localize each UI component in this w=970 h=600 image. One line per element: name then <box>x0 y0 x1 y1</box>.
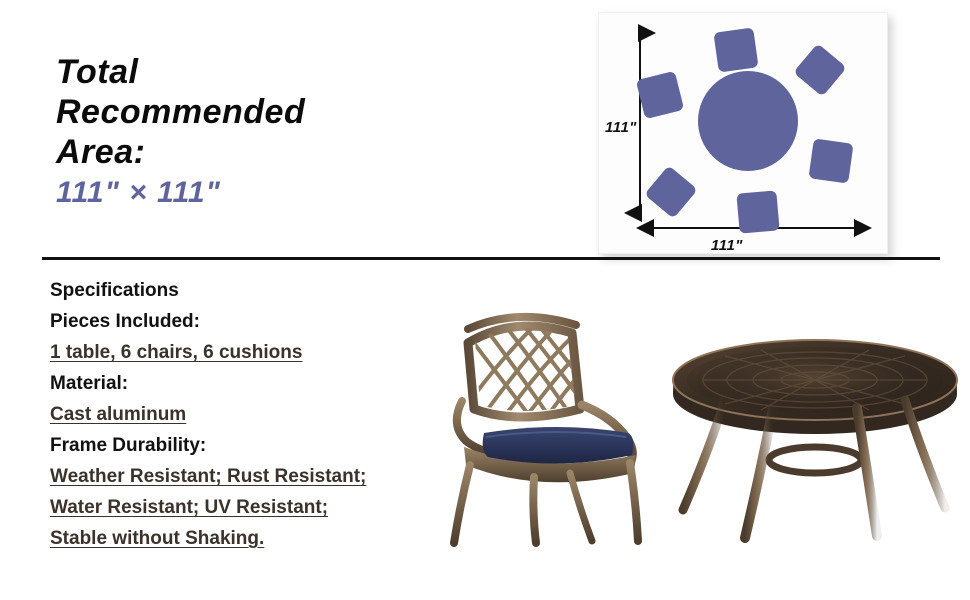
spec-value-frame-durability-line-2: Water Resistant; UV Resistant; <box>50 492 470 523</box>
chair-leg-back-left <box>630 463 638 541</box>
table-product-photo <box>665 330 965 545</box>
chair-leg-back-right <box>570 473 592 541</box>
specifications-block: Specifications Pieces Included: 1 table,… <box>50 275 470 554</box>
spec-value-pieces-included: 1 table, 6 chairs, 6 cushions <box>50 337 470 368</box>
diagram-chair-6 <box>636 71 684 119</box>
chair-leg-front-right <box>533 477 536 543</box>
vertical-dimension-label: 111" <box>605 119 637 136</box>
headline-line-2: Recommended <box>56 92 456 132</box>
diagram-chair-2 <box>793 43 847 97</box>
specifications-heading: Specifications <box>50 275 470 306</box>
spec-label-pieces-included: Pieces Included: <box>50 306 470 337</box>
spec-label-frame-durability: Frame Durability: <box>50 430 470 461</box>
chair-leg-front-left <box>454 465 470 543</box>
layout-diagram-card: 111" 111" <box>598 12 888 254</box>
chair-product-photo <box>440 305 675 550</box>
headline-dimensions: 111" × 111" <box>56 174 456 212</box>
table-center-ring <box>769 447 861 473</box>
infographic-canvas: Total Recommended Area: 111" × 111" <box>0 0 970 600</box>
headline-line-3: Area: <box>56 132 456 172</box>
diagram-chair-3 <box>808 138 853 183</box>
diagram-chair-5 <box>644 165 698 219</box>
spec-value-material: Cast aluminum <box>50 399 470 430</box>
diagram-chair-4 <box>736 190 779 233</box>
diagram-table-circle <box>698 71 798 171</box>
spec-value-frame-durability-line-3: Stable without Shaking. <box>50 523 470 554</box>
diagram-chair-1 <box>713 27 758 72</box>
spec-label-material: Material: <box>50 368 470 399</box>
section-divider <box>42 257 940 260</box>
headline-block: Total Recommended Area: 111" × 111" <box>56 52 456 212</box>
layout-diagram-svg <box>599 13 887 253</box>
horizontal-dimension-label: 111" <box>711 237 743 254</box>
spec-value-frame-durability-line-1: Weather Resistant; Rust Resistant; <box>50 461 470 492</box>
headline-line-1: Total <box>56 52 456 92</box>
